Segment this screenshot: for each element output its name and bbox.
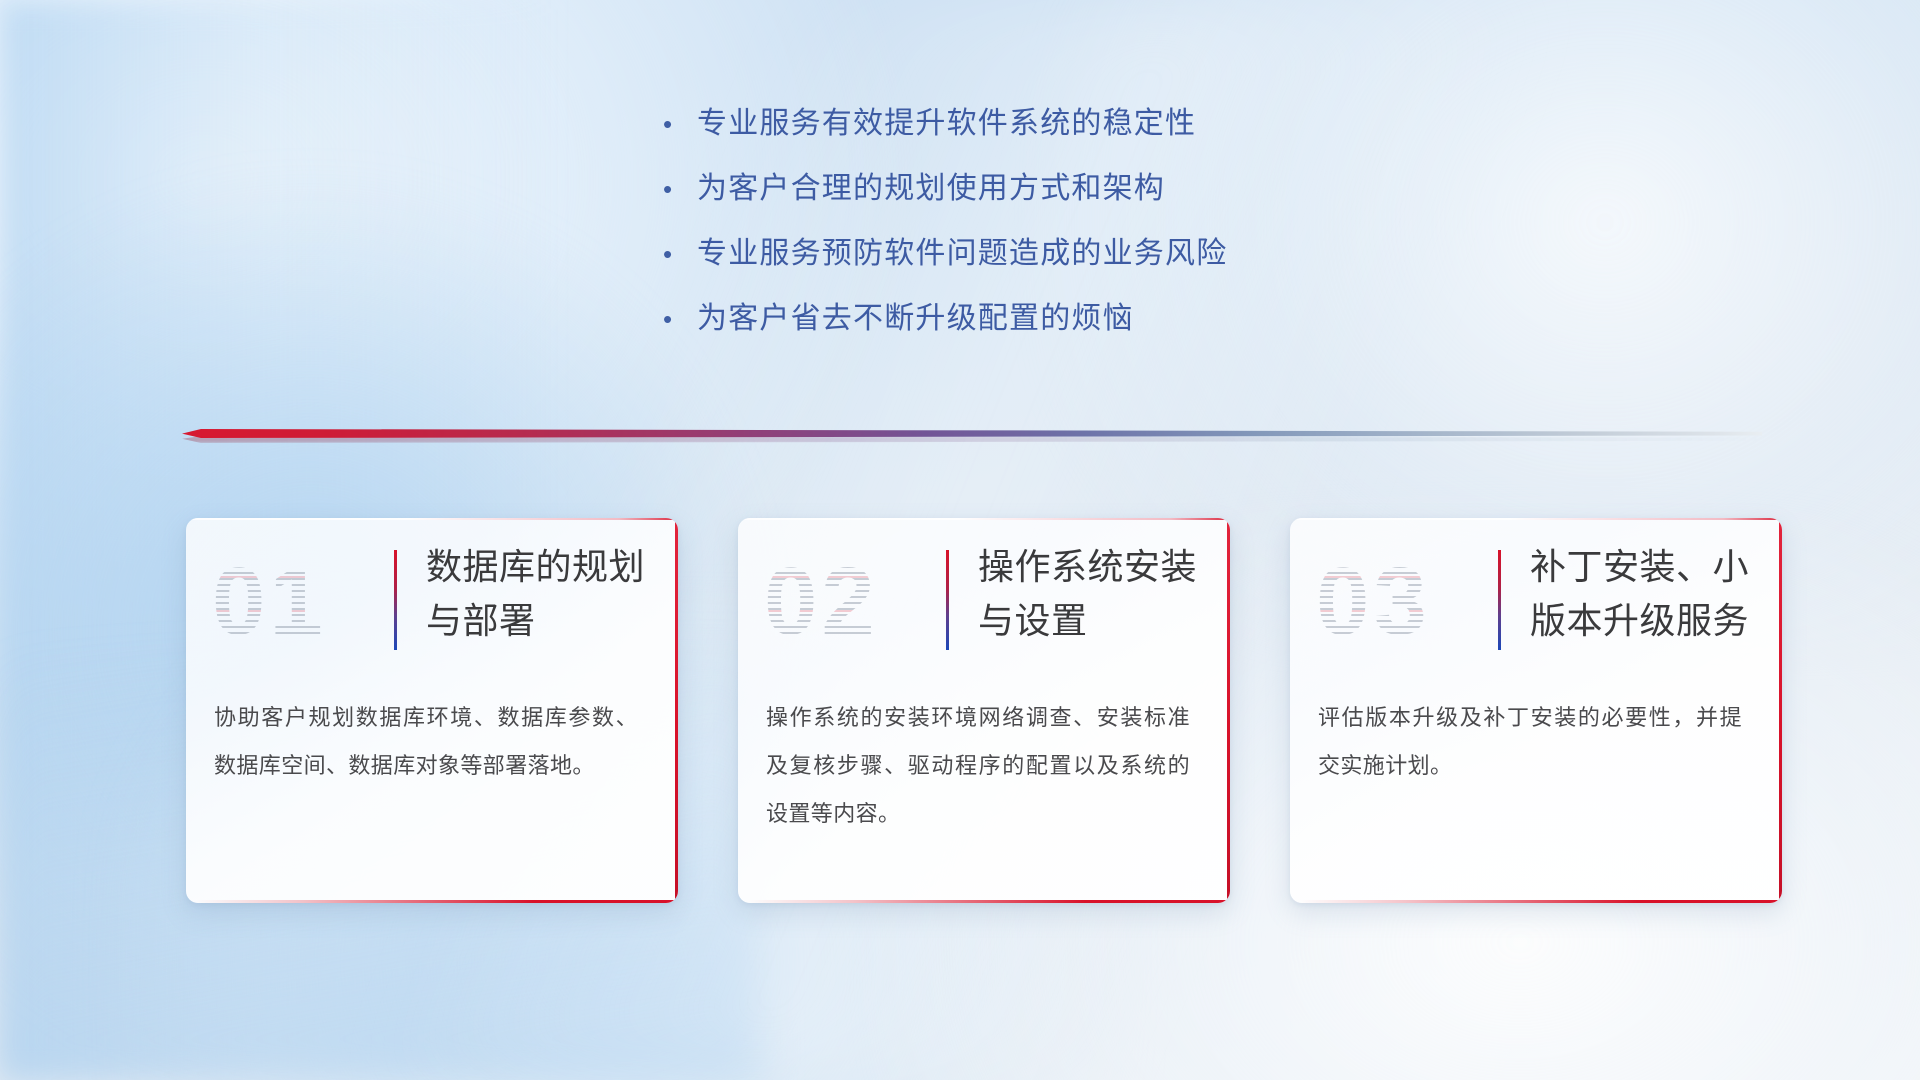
bullet-text-2: 为客户合理的规划使用方式和架构 [697, 169, 1165, 209]
card-bottom-accent [196, 900, 678, 903]
card-number-accent-02: 02 [764, 542, 879, 662]
card-bottom-accent [1300, 900, 1782, 903]
bullet-text-4: 为客户省去不断升级配置的烦恼 [697, 299, 1134, 339]
card-header: 01 01 数据库的规划与部署 [186, 536, 678, 668]
card-body-3: 评估版本升级及补丁安装的必要性，并提交实施计划。 [1318, 694, 1742, 790]
service-card-1[interactable]: 01 01 数据库的规划与部署 协助客户规划数据库环境、数据库参数、数据库空间、… [186, 518, 678, 903]
bullet-dot-icon: • [660, 299, 697, 339]
service-card-3[interactable]: 03 03 补丁安装、小版本升级服务 评估版本升级及补丁安装的必要性，并提交实施… [1290, 518, 1782, 903]
card-number-accent-01: 01 [212, 542, 327, 662]
card-title-2: 操作系统安装与设置 [978, 540, 1208, 648]
card-header: 02 02 操作系统安装与设置 [738, 536, 1230, 668]
card-title-accent-bar [394, 550, 397, 650]
card-body-1: 协助客户规划数据库环境、数据库参数、数据库空间、数据库对象等部署落地。 [214, 694, 638, 790]
bullet-item-3: • 专业服务预防软件问题造成的业务风险 [660, 234, 1440, 299]
card-top-accent [738, 518, 1230, 520]
service-card-group: 01 01 数据库的规划与部署 协助客户规划数据库环境、数据库参数、数据库空间、… [0, 518, 1920, 918]
service-card-2[interactable]: 02 02 操作系统安装与设置 操作系统的安装环境网络调查、安装标准及复核步骤、… [738, 518, 1230, 903]
card-title-3: 补丁安装、小版本升级服务 [1530, 540, 1760, 648]
card-title-1: 数据库的规划与部署 [426, 540, 656, 648]
bullet-item-4: • 为客户省去不断升级配置的烦恼 [660, 299, 1440, 364]
card-top-accent [186, 518, 678, 520]
section-divider [182, 423, 1762, 447]
divider-line [182, 429, 1762, 438]
card-title-accent-bar [946, 550, 949, 650]
card-bottom-accent [748, 900, 1230, 903]
card-top-accent [1290, 518, 1782, 520]
bullet-item-1: • 专业服务有效提升软件系统的稳定性 [660, 104, 1440, 169]
bullet-text-3: 专业服务预防软件问题造成的业务风险 [697, 234, 1227, 274]
bullet-dot-icon: • [660, 234, 697, 274]
card-title-accent-bar [1498, 550, 1501, 650]
card-body-2: 操作系统的安装环境网络调查、安装标准及复核步骤、驱动程序的配置以及系统的设置等内… [766, 694, 1190, 838]
slide-canvas: • 专业服务有效提升软件系统的稳定性 • 为客户合理的规划使用方式和架构 • 专… [0, 0, 1920, 1080]
bullet-text-1: 专业服务有效提升软件系统的稳定性 [697, 104, 1196, 144]
benefits-bullet-list: • 专业服务有效提升软件系统的稳定性 • 为客户合理的规划使用方式和架构 • 专… [660, 104, 1440, 364]
bullet-item-2: • 为客户合理的规划使用方式和架构 [660, 169, 1440, 234]
card-number-accent-03: 03 [1316, 542, 1431, 662]
card-header: 03 03 补丁安装、小版本升级服务 [1290, 536, 1782, 668]
bullet-dot-icon: • [660, 104, 697, 144]
bullet-dot-icon: • [660, 169, 697, 209]
